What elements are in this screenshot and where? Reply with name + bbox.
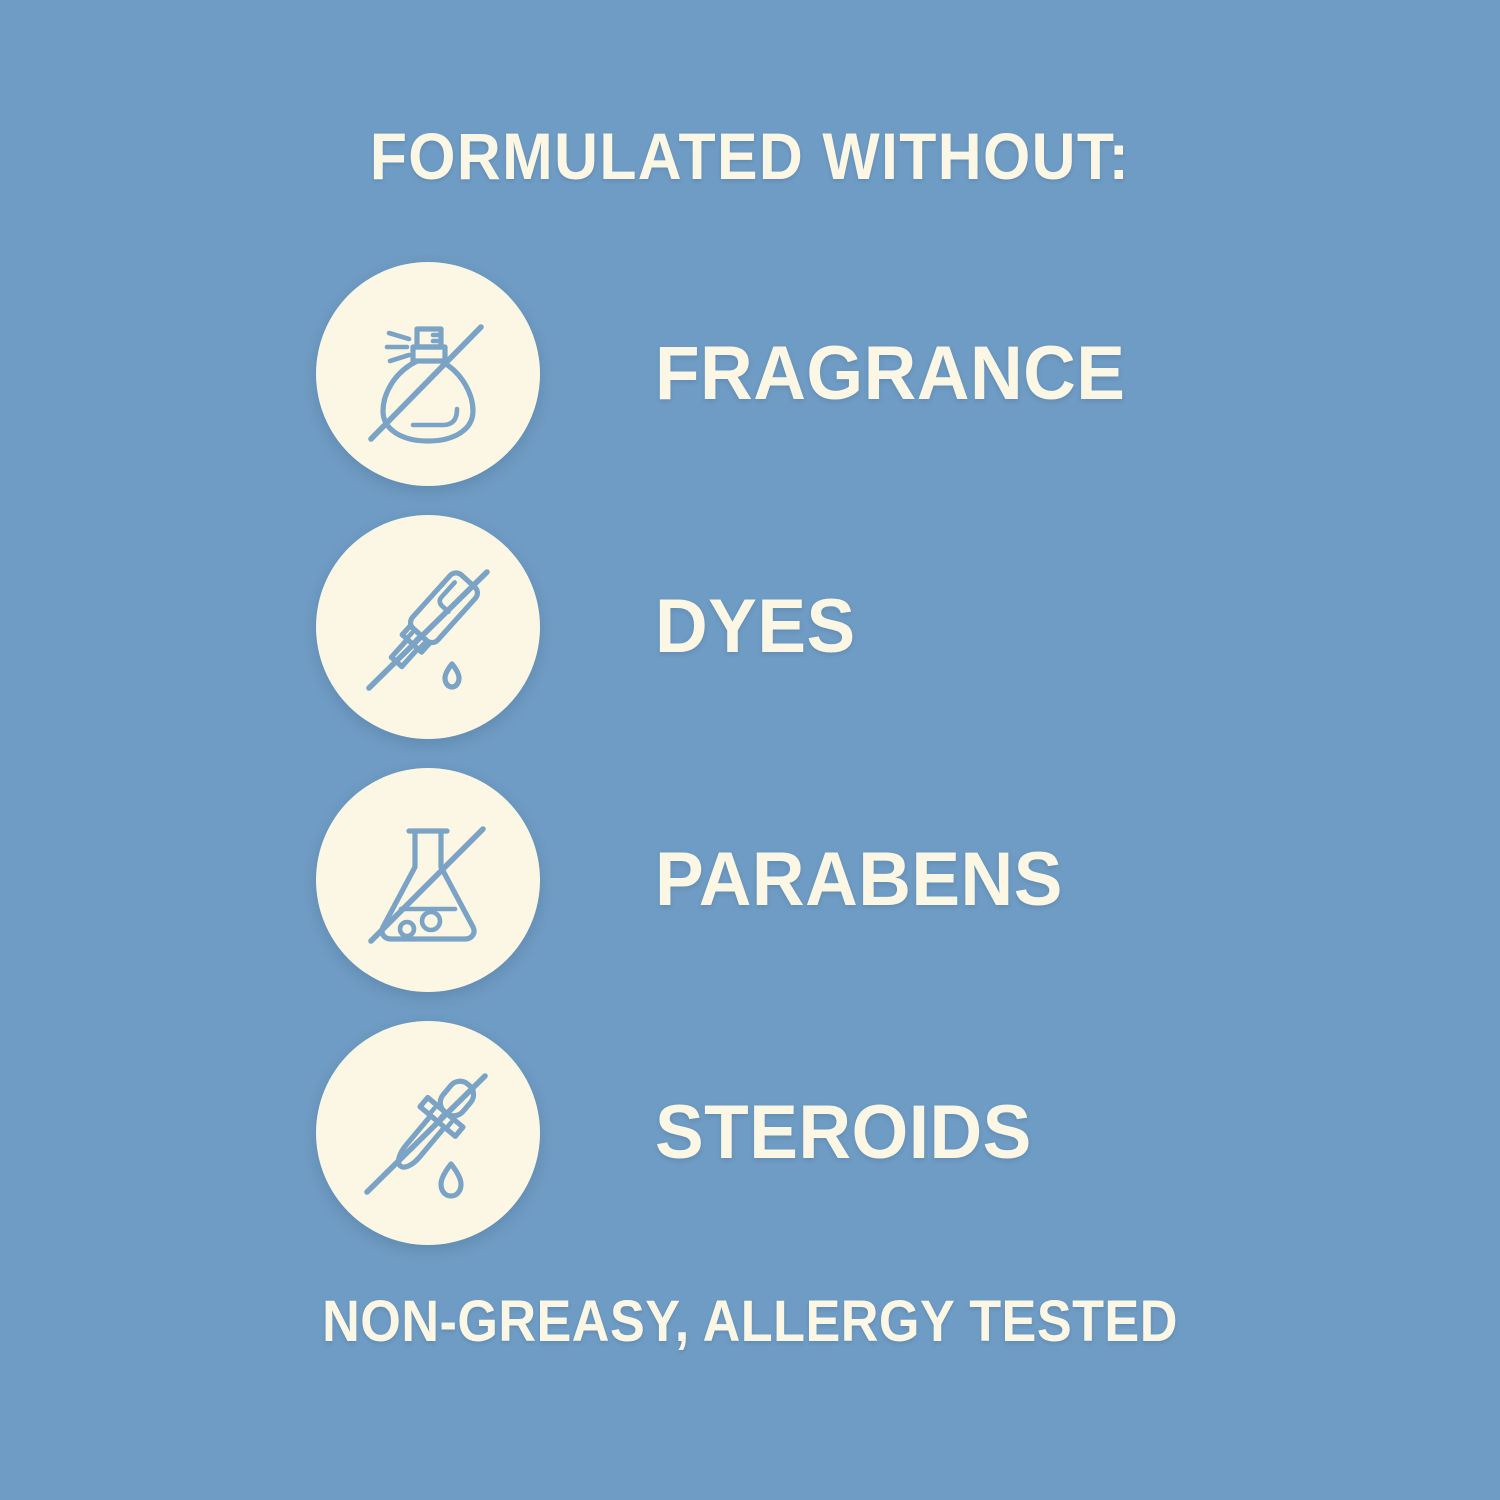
list-item-label: PARABENS [655, 768, 1063, 992]
list-item: STEROIDS [0, 1021, 1500, 1245]
list-item: FRAGRANCE [0, 262, 1500, 486]
list-item-label: DYES [655, 515, 856, 739]
no-dye-applicator-icon [316, 515, 540, 739]
no-fragrance-spray-bottle-icon [316, 262, 540, 486]
list-item: PARABENS [0, 768, 1500, 992]
claims-list: FRAGRANCE [0, 262, 1500, 1274]
list-item-label: FRAGRANCE [655, 262, 1125, 486]
list-item-label: STEROIDS [655, 1021, 1032, 1245]
footer-claim-text: NON-GREASY, ALLERGY TESTED [75, 1293, 1425, 1351]
no-dropper-pipette-icon [316, 1021, 540, 1245]
list-item: DYES [0, 515, 1500, 739]
no-chemical-flask-icon [316, 768, 540, 992]
formulated-without-panel: FORMULATED WITHOUT: [0, 0, 1500, 1500]
page-title: FORMULATED WITHOUT: [60, 123, 1440, 189]
